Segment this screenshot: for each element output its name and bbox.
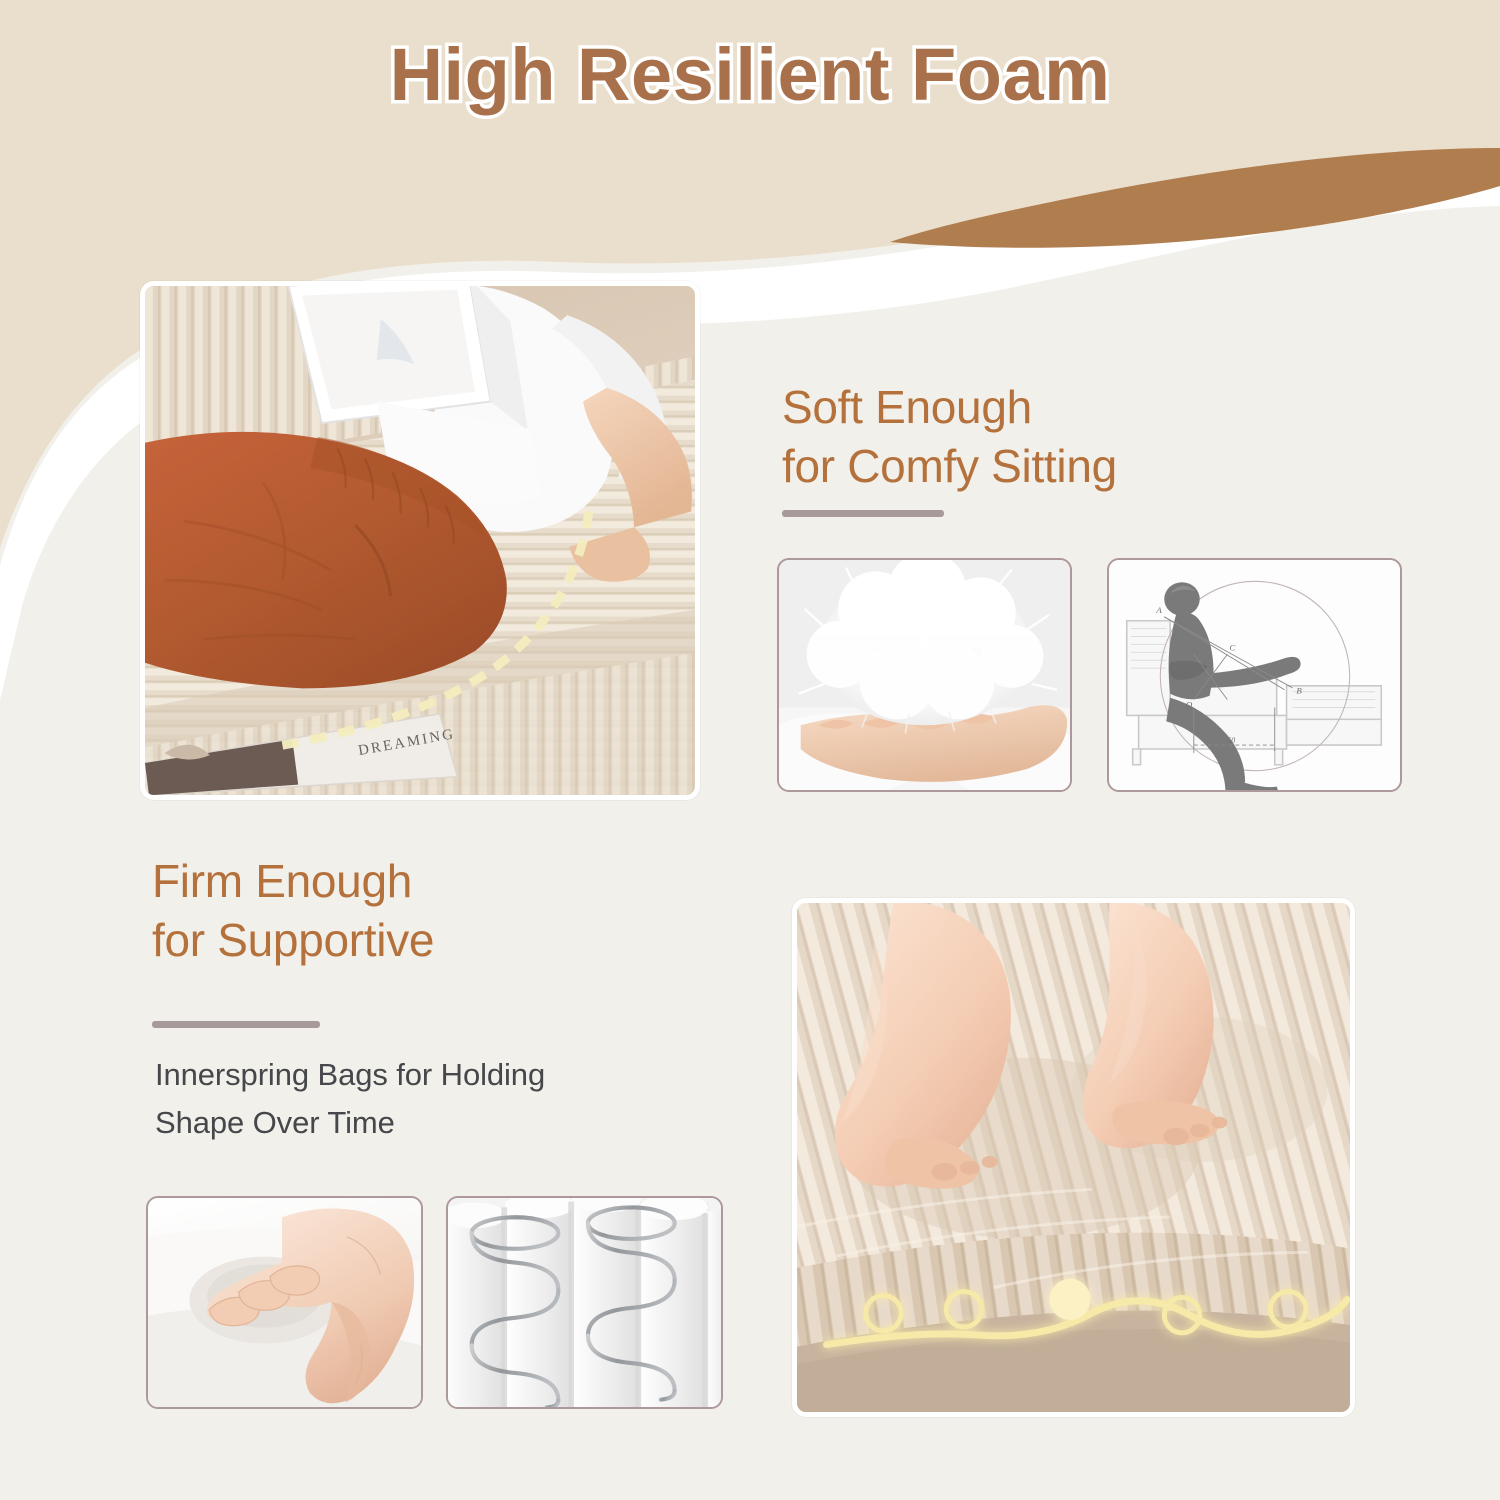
thumb-fiber-fill-in-hand	[777, 558, 1072, 792]
photo-bare-feet-on-ribbed-cushion	[792, 898, 1355, 1417]
photo-person-reading-on-sofa: DREAMING	[140, 281, 700, 800]
fiber-fill-illustration	[779, 560, 1070, 790]
svg-text:50: 50	[1227, 736, 1235, 745]
pocket-spring-coils-illustration	[448, 1198, 721, 1407]
firm-section-heading: Firm Enough for Supportive	[152, 852, 712, 970]
firm-section-rule	[152, 1021, 320, 1028]
ergonomic-diagram-illustration: A B C O 50	[1109, 560, 1400, 790]
hand-pressing-foam-illustration	[148, 1198, 421, 1407]
thumb-pocket-spring-coils	[446, 1196, 723, 1409]
firm-section-body: Innerspring Bags for Holding Shape Over …	[155, 1051, 775, 1147]
page-header: High Resilient Foam	[0, 0, 1500, 150]
thumb-ergonomic-seating-diagram: A B C O 50	[1107, 558, 1402, 792]
soft-section-heading: Soft Enough for Comfy Sitting	[782, 378, 1302, 496]
soft-section-rule	[782, 510, 944, 517]
svg-text:B: B	[1296, 686, 1302, 696]
content-root: DREAMING Soft Enough for Comfy Sitting	[0, 0, 1500, 1500]
svg-text:A: A	[1155, 605, 1162, 615]
page-title: High Resilient Foam	[390, 38, 1111, 112]
feet-on-cushion-illustration	[797, 903, 1350, 1412]
svg-text:C: C	[1229, 642, 1235, 652]
svg-text:O: O	[1186, 700, 1193, 710]
thumb-hand-pressing-foam	[146, 1196, 423, 1409]
person-reading-illustration: DREAMING	[145, 286, 695, 795]
